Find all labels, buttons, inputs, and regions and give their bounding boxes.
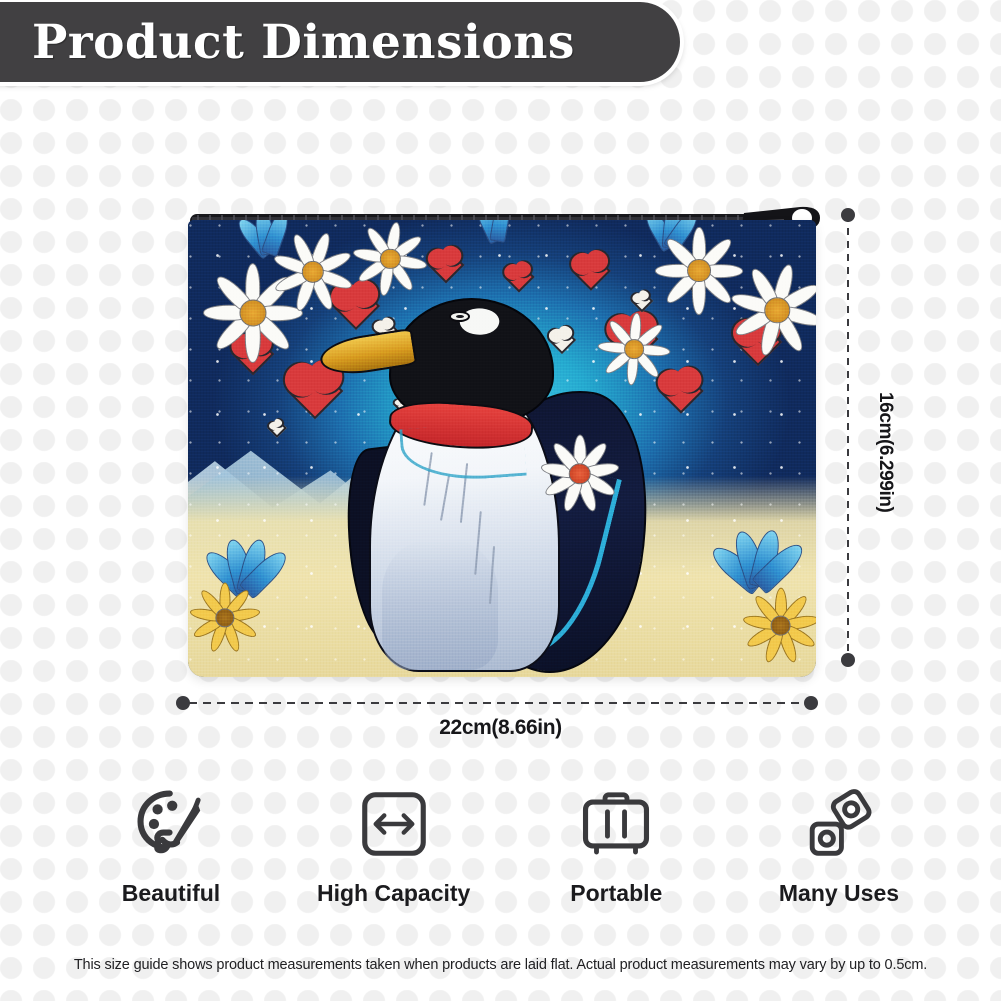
width-guide-dot-left: [176, 696, 190, 710]
canvas-weave-texture: [188, 220, 816, 677]
width-label: 22cm(8.66in): [0, 716, 1001, 740]
width-guide-line: [189, 702, 811, 704]
feature-label: Many Uses: [779, 880, 899, 907]
feature-high-capacity: High Capacity: [283, 782, 505, 907]
width-guide-dot-right: [804, 696, 818, 710]
feature-portable: Portable: [505, 782, 727, 907]
palette-brush-icon: [132, 782, 210, 866]
feature-label: High Capacity: [317, 880, 470, 907]
height-guide-dot-bottom: [841, 653, 855, 667]
product-dimensions-page: Product Dimensions: [0, 0, 1001, 1001]
horizontal-arrow-box-icon: [355, 782, 433, 866]
height-guide-line: [847, 215, 849, 660]
product-image: [188, 205, 816, 677]
title-banner: Product Dimensions: [0, 2, 680, 82]
feature-label: Portable: [570, 880, 662, 907]
feature-beautiful: Beautiful: [60, 782, 282, 907]
feature-many-uses: Many Uses: [728, 782, 950, 907]
footer-note: This size guide shows product measuremen…: [0, 957, 1001, 973]
feature-label: Beautiful: [122, 880, 220, 907]
page-title: Product Dimensions: [32, 15, 575, 70]
feature-row: Beautiful High Capacity: [60, 782, 950, 907]
height-guide-dot-top: [841, 208, 855, 222]
two-dice-icon: [800, 782, 878, 866]
height-label: 16cm(6.299in): [874, 392, 896, 542]
pouch-canvas: [188, 220, 816, 677]
suitcase-icon: [577, 782, 655, 866]
